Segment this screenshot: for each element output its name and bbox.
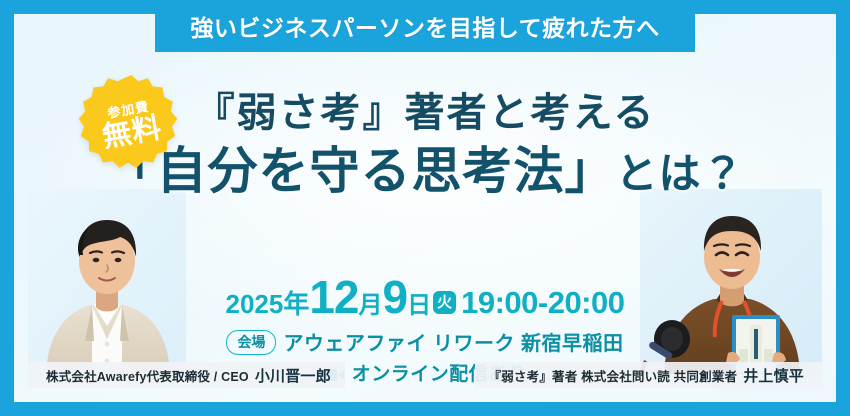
venue-name: アウェアファイ リワーク 新宿早稲田	[283, 333, 623, 355]
venue-row: 会場アウェアファイ リワーク 新宿早稲田	[14, 327, 836, 356]
speaker-left-name: 小川晋一郎	[255, 365, 331, 386]
speaker-right-role: 『弱さ考』著者 株式会社問い読 共同創業者	[489, 366, 738, 385]
header-ribbon-text: 強いビジネスパーソンを目指して疲れた方へ	[190, 9, 659, 43]
poster-canvas: 『弱さ考』著者と考える 「自分を守る思考法」とは？ 2025年12月9日火19:…	[14, 14, 836, 402]
event-month-unit: 月	[359, 292, 383, 319]
event-time-range: 19:00-20:00	[461, 285, 624, 320]
event-day-unit: 日	[407, 292, 431, 319]
event-year: 2025年	[225, 289, 309, 319]
event-poster: 『弱さ考』著者と考える 「自分を守る思考法」とは？ 2025年12月9日火19:…	[0, 0, 850, 416]
headline-line-2-tail: とは？	[615, 150, 744, 197]
speaker-right-name: 井上慎平	[743, 365, 804, 386]
header-ribbon: 強いビジネスパーソンを目指して疲れた方へ	[155, 0, 695, 52]
event-month-number: 12	[309, 271, 358, 323]
speaker-caption-right: 『弱さ考』著者 株式会社問い読 共同創業者 井上慎平	[475, 362, 822, 388]
event-day-number: 9	[383, 271, 408, 323]
venue-pill-label: 会場	[226, 330, 276, 355]
free-admission-badge-labels: 参加費 無料	[70, 64, 193, 187]
event-day-of-week-badge: 火	[433, 291, 456, 314]
free-admission-badge: 参加費 無料	[78, 72, 184, 178]
event-datetime: 2025年12月9日火19:00-20:00	[14, 270, 836, 324]
bottom-frame-bar	[0, 402, 850, 416]
speaker-left-role: 株式会社Awarefy代表取締役 / CEO	[46, 366, 249, 385]
speaker-caption-left: 株式会社Awarefy代表取締役 / CEO 小川晋一郎	[28, 362, 345, 388]
